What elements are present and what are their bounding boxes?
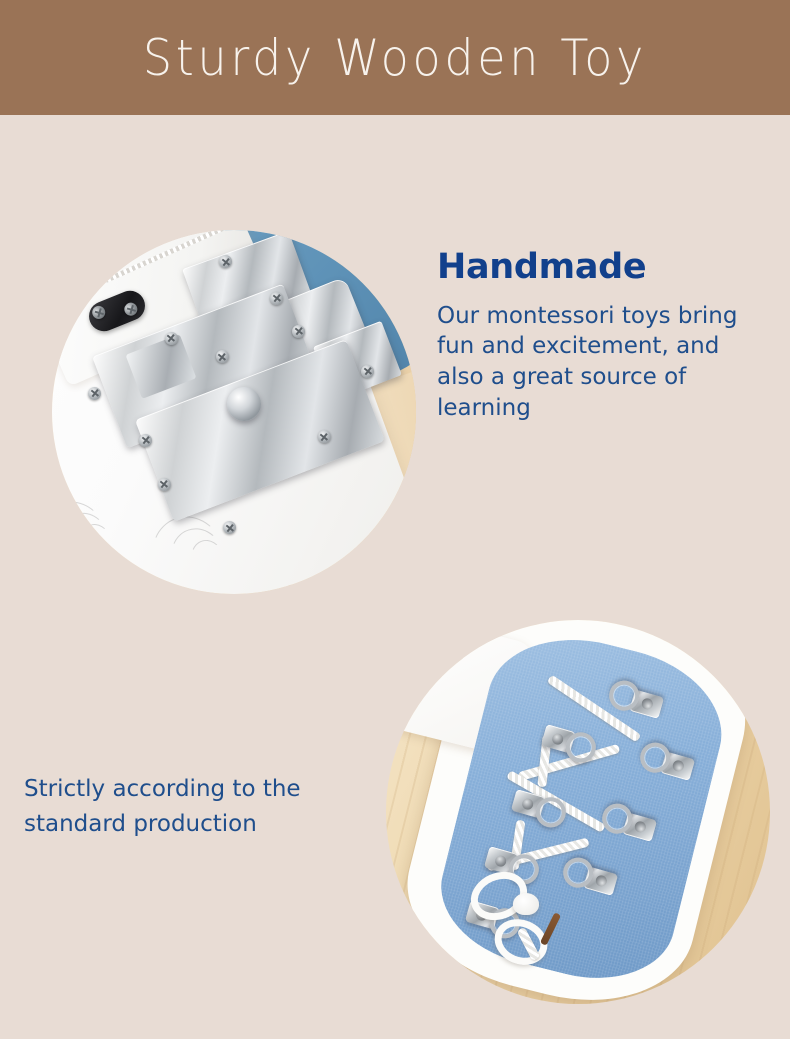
screw-icon [123, 300, 140, 317]
screw-icon [633, 820, 647, 834]
screw-icon [292, 325, 305, 338]
screw-icon [88, 387, 101, 400]
screw-icon [494, 855, 508, 869]
screw-icon [595, 874, 609, 888]
standard-production-text: Strictly according to the standard produ… [24, 772, 384, 841]
latch-knob [227, 387, 261, 421]
screw-icon [158, 478, 171, 491]
shoe-lacing-board-photo [386, 620, 770, 1004]
screw-icon [641, 697, 655, 711]
screw-icon [91, 304, 108, 321]
handmade-heading: Handmade [437, 248, 767, 287]
header-banner: Sturdy Wooden Toy [0, 0, 790, 115]
screw-icon [165, 332, 178, 345]
screw-icon [521, 797, 535, 811]
metal-slide-bolt-latch-photo [52, 230, 416, 594]
screw-icon [361, 365, 374, 378]
latch-photo-scene [52, 230, 416, 594]
screw-icon [318, 430, 331, 443]
lacing-photo-scene [386, 620, 770, 1004]
handmade-body-text: Our montessori toys bring fun and excite… [437, 301, 767, 424]
screw-icon [216, 350, 229, 363]
handmade-feature-block: Handmade Our montessori toys bring fun a… [437, 248, 767, 424]
screw-icon [551, 732, 565, 746]
screw-icon [672, 759, 686, 773]
lace-knot [513, 893, 539, 915]
page-title: Sturdy Wooden Toy [143, 33, 647, 83]
